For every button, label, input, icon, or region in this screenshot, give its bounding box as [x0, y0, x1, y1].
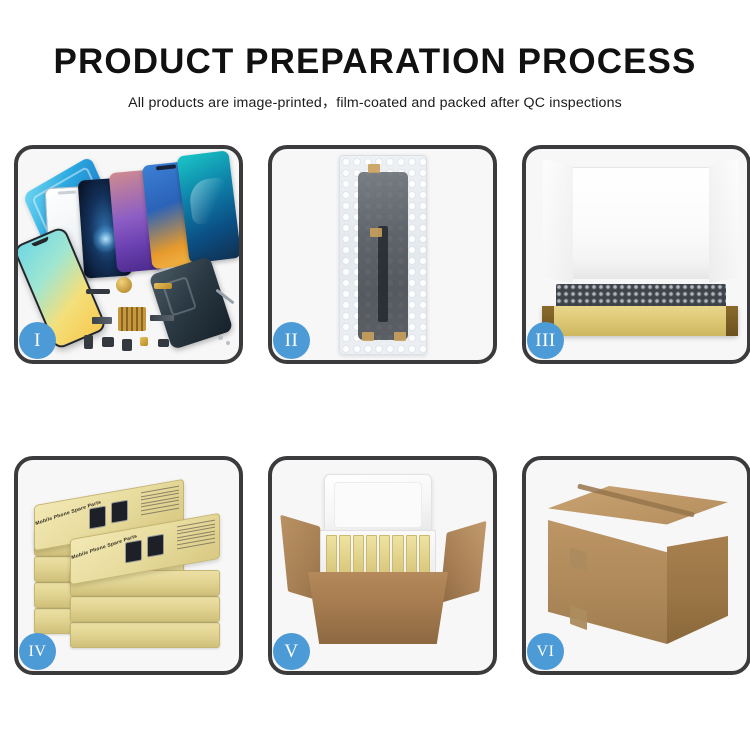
box-spec-lines-front — [177, 520, 215, 553]
product-preparation-infographic: PRODUCT PREPARATION PROCESS All products… — [0, 0, 750, 750]
process-step-2[interactable]: II Single LCD screen assembly sealed in … — [268, 145, 497, 364]
header: PRODUCT PREPARATION PROCESS All products… — [0, 0, 750, 112]
screw-1 — [218, 335, 223, 340]
step-5-badge: V — [273, 633, 310, 670]
foam-lid-open — [324, 474, 432, 536]
step-2-badge: II — [273, 322, 310, 359]
flex-cable-2 — [150, 315, 174, 321]
page-title: PRODUCT PREPARATION PROCESS — [0, 0, 750, 81]
kraft-box-base — [542, 306, 738, 336]
process-step-grid: I Phone screens, LCD assemblies and disa… — [14, 145, 736, 675]
screen-flex-cable — [378, 226, 388, 322]
kraft-boxes-inside — [326, 535, 430, 573]
earpiece-component — [86, 289, 110, 294]
box-phone-image-1 — [89, 506, 106, 530]
screw-2 — [226, 341, 230, 345]
flex-cable-1 — [92, 317, 112, 324]
speaker-component — [116, 277, 132, 293]
process-step-1[interactable]: I Phone screens, LCD assemblies and disa… — [14, 145, 243, 364]
process-step-6[interactable]: VI Sealed brown corrugated shipping cart… — [522, 456, 750, 675]
process-step-3[interactable]: III Kraft paper box opened showing white… — [522, 145, 750, 364]
process-step-5[interactable]: V Open shipping carton with foam lining … — [268, 456, 497, 675]
battery-connector — [158, 339, 169, 347]
sim-tray-part — [122, 339, 132, 351]
process-step-4[interactable]: Mobile Phone Spare Parts Mobile Phone Sp… — [14, 456, 243, 675]
step-1-badge: I — [19, 322, 56, 359]
stacked-box-front-4 — [70, 622, 220, 648]
step-4-badge: IV — [19, 633, 56, 670]
tape-patch-1 — [368, 164, 380, 173]
kraft-box-stack: Mobile Phone Spare Parts Mobile Phone Sp… — [32, 482, 232, 660]
carton-side-face — [667, 536, 728, 644]
box-phone-image-3 — [125, 540, 142, 564]
logic-board-chip — [118, 307, 146, 331]
gold-connector — [154, 283, 172, 289]
box-spec-lines-rear — [141, 486, 179, 519]
box-phone-image-2 — [111, 500, 128, 524]
small-screw-plate — [140, 337, 148, 346]
tape-patch-2 — [370, 228, 382, 237]
page-subtitle: All products are image-printed，film-coat… — [0, 81, 750, 112]
shipping-carton-open — [308, 572, 448, 644]
tape-patch-3 — [362, 332, 374, 341]
vibrator-motor — [102, 337, 114, 347]
step-3-badge: III — [527, 322, 564, 359]
box-phone-image-4 — [147, 534, 164, 558]
white-foam-lid — [552, 167, 730, 279]
camera-module — [84, 335, 93, 349]
tape-patch-4 — [394, 332, 406, 341]
step-6-badge: VI — [527, 633, 564, 670]
stacked-box-front-3 — [70, 596, 220, 622]
carton-flap-right — [440, 521, 487, 603]
sealed-carton — [548, 486, 728, 646]
bubble-wrap-bag — [339, 155, 427, 355]
carton-front-face — [548, 520, 667, 644]
